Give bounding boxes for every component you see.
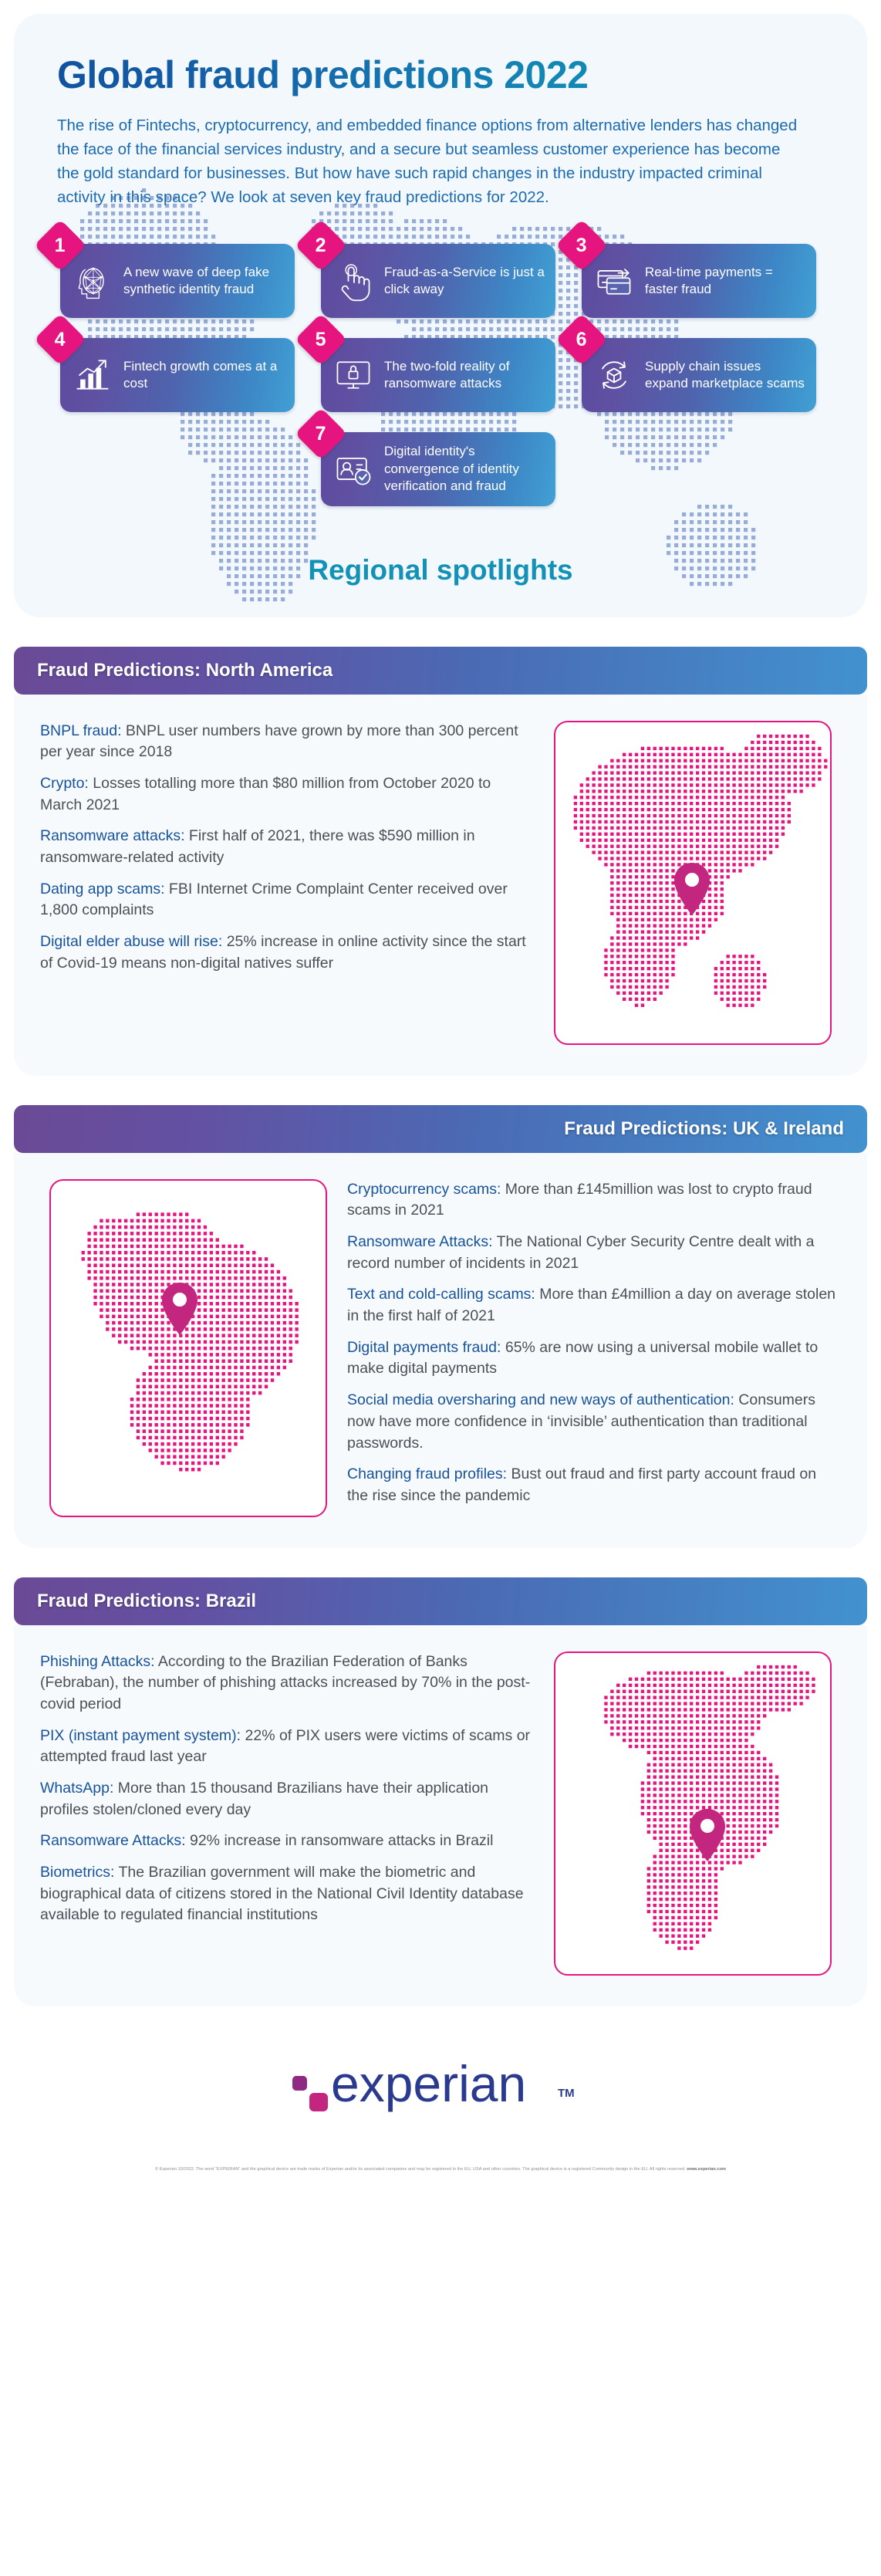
list-item: Digital elder abuse will rise: 25% incre… xyxy=(40,931,534,974)
bullet-label: Ransomware Attacks: xyxy=(40,1832,186,1849)
list-item: Biometrics: The Brazilian government wil… xyxy=(40,1862,534,1926)
list-item: Crypto: Losses totalling more than $80 m… xyxy=(40,773,534,816)
prediction-card-3[interactable]: 3 Real-time payments = faster fraud xyxy=(582,244,816,318)
list-item: Ransomware Attacks: 92% increase in rans… xyxy=(40,1831,534,1852)
region-brazil: Fraud Predictions: Brazil Phishing Attac… xyxy=(14,1577,867,2006)
region-title: Fraud Predictions: UK & Ireland xyxy=(564,1118,844,1140)
prediction-card-6[interactable]: 6 Supply chain issues expand marketplace… xyxy=(582,338,816,412)
region-header-bar: Fraud Predictions: Brazil xyxy=(14,1577,867,1625)
region-uk-ireland: Fraud Predictions: UK & Ireland Cryptocu… xyxy=(14,1105,867,1548)
legal-prefix: © Experian 10/2022. The word "EXPERIAN" … xyxy=(155,2167,687,2172)
map-pin-icon xyxy=(671,861,713,917)
hero-section: Global fraud predictions 2022 The rise o… xyxy=(14,14,867,617)
list-item: BNPL fraud: BNPL user numbers have grown… xyxy=(40,721,534,763)
badge-number: 1 xyxy=(55,235,66,255)
bullet-label: Ransomware Attacks: xyxy=(347,1233,493,1250)
bullet-label: BNPL fraud: xyxy=(40,722,122,739)
intro-paragraph: The rise of Fintechs, cryptocurrency, an… xyxy=(57,113,798,210)
prediction-card-7[interactable]: 7 Digital identity's convergence of iden… xyxy=(321,432,555,506)
prediction-card-label: Digital identity's convergence of identi… xyxy=(384,443,545,494)
list-item: WhatsApp: More than 15 thousand Brazilia… xyxy=(40,1778,534,1820)
bullet-label: PIX (instant payment system): xyxy=(40,1727,241,1744)
badge-number: 2 xyxy=(316,235,326,255)
list-item: Phishing Attacks: According to the Brazi… xyxy=(40,1651,534,1716)
bullet-text: Losses totalling more than $80 million f… xyxy=(40,775,491,813)
badge-number: 3 xyxy=(576,235,587,255)
list-item: Changing fraud profiles: Bust out fraud … xyxy=(347,1464,841,1506)
list-item: Ransomware Attacks: The National Cyber S… xyxy=(347,1232,841,1274)
experian-wordmark: experian TM xyxy=(286,2053,595,2122)
bullet-label: Digital elder abuse will rise: xyxy=(40,933,222,950)
bullet-label: Digital payments fraud: xyxy=(347,1339,501,1356)
badge-number: 5 xyxy=(316,330,326,349)
supply-chain-icon xyxy=(592,353,636,397)
bullet-label: Dating app scams: xyxy=(40,881,165,898)
growth-chart-icon xyxy=(71,353,114,397)
badge-number: 7 xyxy=(316,424,326,443)
region-bullet-list: Cryptocurrency scams: More than £145mill… xyxy=(347,1179,841,1517)
list-item: Dating app scams: FBI Internet Crime Com… xyxy=(40,879,534,921)
uk-ireland-europe-dot-map xyxy=(49,1179,327,1517)
bullet-label: Phishing Attacks: xyxy=(40,1653,155,1670)
legal-url[interactable]: www.experian.com xyxy=(687,2167,726,2172)
prediction-card-label: Supply chain issues expand marketplace s… xyxy=(645,358,805,392)
experian-logo: experian TM xyxy=(286,2053,595,2122)
prediction-card-label: Real-time payments = faster fraud xyxy=(645,264,805,298)
south-america-dot-map xyxy=(554,1651,832,1976)
prediction-card-2[interactable]: 2 Fraud-as-a-Service is just a click awa… xyxy=(321,244,555,318)
legal-text: © Experian 10/2022. The word "EXPERIAN" … xyxy=(0,2160,881,2182)
north-america-dot-map xyxy=(554,721,832,1045)
region-body: Cryptocurrency scams: More than £145mill… xyxy=(14,1153,867,1548)
region-title: Fraud Predictions: Brazil xyxy=(37,1591,256,1612)
locked-monitor-icon xyxy=(332,353,375,397)
region-bullet-list: Phishing Attacks: According to the Brazi… xyxy=(40,1651,534,1976)
list-item: Digital payments fraud: 65% are now usin… xyxy=(347,1337,841,1380)
prediction-card-5[interactable]: 5 The two-fold reality of ransomware att… xyxy=(321,338,555,412)
card-payment-icon xyxy=(592,259,636,303)
list-item: Social media oversharing and new ways of… xyxy=(347,1390,841,1454)
region-body: Phishing Attacks: According to the Brazi… xyxy=(14,1625,867,2006)
region-header-bar: Fraud Predictions: UK & Ireland xyxy=(14,1105,867,1153)
prediction-card-label: A new wave of deep fake synthetic identi… xyxy=(123,264,284,298)
list-item: PIX (instant payment system): 22% of PIX… xyxy=(40,1726,534,1768)
prediction-cards: 1 A new wave of deep f xyxy=(57,244,824,506)
page-title: Global fraud predictions 2022 xyxy=(57,54,824,96)
bullet-label: Text and cold-calling scams: xyxy=(347,1286,535,1303)
list-item: Cryptocurrency scams: More than £145mill… xyxy=(347,1179,841,1222)
footer: experian TM © Experian 10/2022. The word… xyxy=(0,2053,881,2186)
map-pin-icon xyxy=(159,1281,201,1337)
map-pin-icon xyxy=(687,1807,728,1863)
bullet-text: 92% increase in ransomware attacks in Br… xyxy=(186,1832,494,1849)
hand-click-icon xyxy=(332,259,375,303)
badge-number: 4 xyxy=(55,330,66,349)
bullet-label: WhatsApp: xyxy=(40,1780,113,1797)
bullet-label: Biometrics: xyxy=(40,1864,114,1881)
bullet-label: Cryptocurrency scams: xyxy=(347,1181,501,1198)
prediction-card-label: Fraud-as-a-Service is just a click away xyxy=(384,264,545,298)
bullet-label: Social media oversharing and new ways of… xyxy=(347,1391,734,1408)
list-item: Text and cold-calling scams: More than £… xyxy=(347,1284,841,1327)
list-item: Ransomware attacks: First half of 2021, … xyxy=(40,826,534,868)
region-header-bar: Fraud Predictions: North America xyxy=(14,647,867,695)
bullet-label: Changing fraud profiles: xyxy=(347,1465,507,1482)
prediction-card-4[interactable]: 4 Fintech growth comes at a cost xyxy=(60,338,295,412)
bullet-label: Ransomware attacks: xyxy=(40,827,185,844)
region-title: Fraud Predictions: North America xyxy=(37,660,332,681)
badge-number: 6 xyxy=(576,330,587,349)
face-mesh-icon xyxy=(71,259,114,303)
prediction-card-label: Fintech growth comes at a cost xyxy=(123,358,284,392)
region-north-america: Fraud Predictions: North America BNPL fr… xyxy=(14,647,867,1076)
prediction-card-1[interactable]: 1 A new wave of deep f xyxy=(60,244,295,318)
infographic-page: Global fraud predictions 2022 The rise o… xyxy=(0,14,881,2186)
id-verified-icon xyxy=(332,448,375,491)
regional-spotlights-heading: Regional spotlights xyxy=(57,554,824,587)
region-body: BNPL fraud: BNPL user numbers have grown… xyxy=(14,695,867,1076)
prediction-card-label: The two-fold reality of ransomware attac… xyxy=(384,358,545,392)
bullet-label: Crypto: xyxy=(40,775,89,792)
region-bullet-list: BNPL fraud: BNPL user numbers have grown… xyxy=(40,721,534,1045)
